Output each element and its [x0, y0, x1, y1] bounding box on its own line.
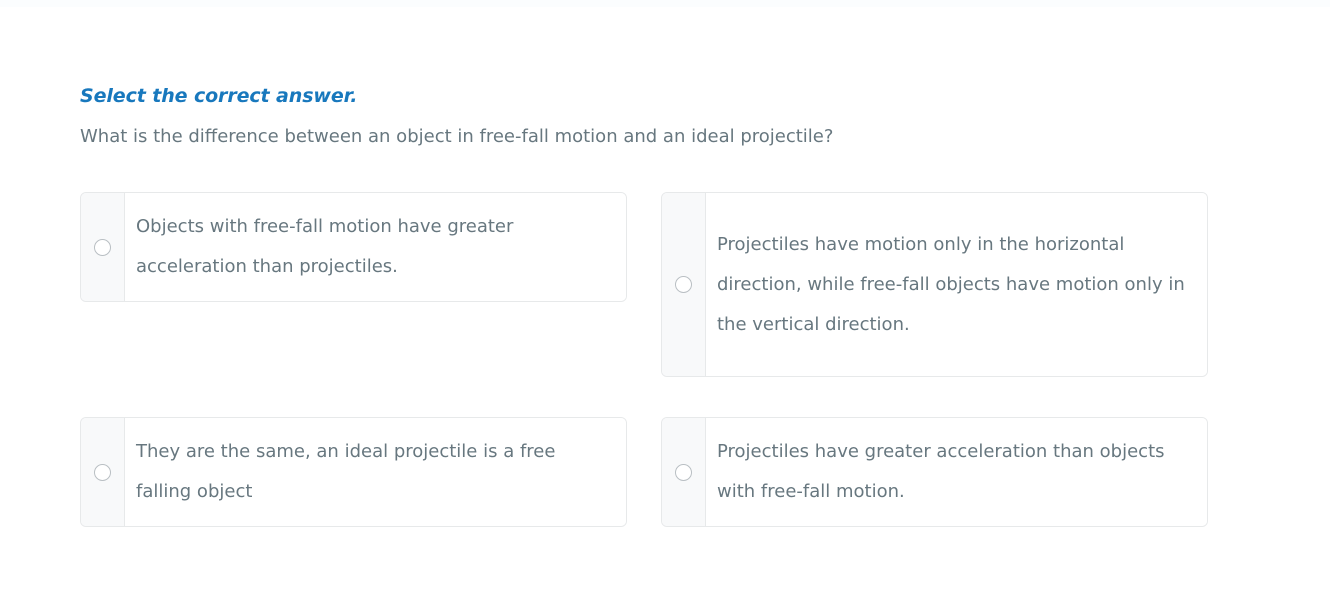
answer-options-row-top: Objects with free-fall motion have great… — [80, 192, 1208, 377]
radio-unchecked-icon[interactable] — [675, 276, 692, 293]
radio-column-b[interactable] — [662, 193, 706, 376]
option-label-b: Projectiles have motion only in the hori… — [717, 225, 1189, 345]
question-block: Select the correct answer. What is the d… — [80, 84, 1260, 150]
radio-unchecked-icon[interactable] — [94, 239, 111, 256]
answer-option-d[interactable]: Projectiles have greater acceleration th… — [661, 417, 1208, 527]
select-answer-instruction: Select the correct answer. — [80, 84, 1260, 108]
option-body-c[interactable]: They are the same, an ideal projectile i… — [125, 418, 626, 526]
option-label-c: They are the same, an ideal projectile i… — [136, 432, 608, 512]
option-body-a[interactable]: Objects with free-fall motion have great… — [125, 193, 626, 301]
option-body-b[interactable]: Projectiles have motion only in the hori… — [706, 193, 1207, 376]
radio-column-c[interactable] — [81, 418, 125, 526]
option-label-d: Projectiles have greater acceleration th… — [717, 432, 1189, 512]
answer-options-grid: Objects with free-fall motion have great… — [80, 192, 1208, 527]
option-body-d[interactable]: Projectiles have greater acceleration th… — [706, 418, 1207, 526]
answer-option-b[interactable]: Projectiles have motion only in the hori… — [661, 192, 1208, 377]
answer-option-a[interactable]: Objects with free-fall motion have great… — [80, 192, 627, 302]
answer-options-row-bottom: They are the same, an ideal projectile i… — [80, 417, 1208, 527]
radio-column-a[interactable] — [81, 193, 125, 301]
option-slot-c: They are the same, an ideal projectile i… — [80, 417, 627, 527]
question-prompt: What is the difference between an object… — [80, 108, 1260, 150]
option-label-a: Objects with free-fall motion have great… — [136, 207, 608, 287]
quiz-page: Select the correct answer. What is the d… — [0, 0, 1330, 612]
radio-column-d[interactable] — [662, 418, 706, 526]
answer-option-c[interactable]: They are the same, an ideal projectile i… — [80, 417, 627, 527]
option-slot-b: Projectiles have motion only in the hori… — [661, 192, 1208, 377]
option-slot-a: Objects with free-fall motion have great… — [80, 192, 627, 302]
radio-unchecked-icon[interactable] — [94, 464, 111, 481]
option-slot-d: Projectiles have greater acceleration th… — [661, 417, 1208, 527]
radio-unchecked-icon[interactable] — [675, 464, 692, 481]
options-row-spacer — [80, 377, 1208, 417]
